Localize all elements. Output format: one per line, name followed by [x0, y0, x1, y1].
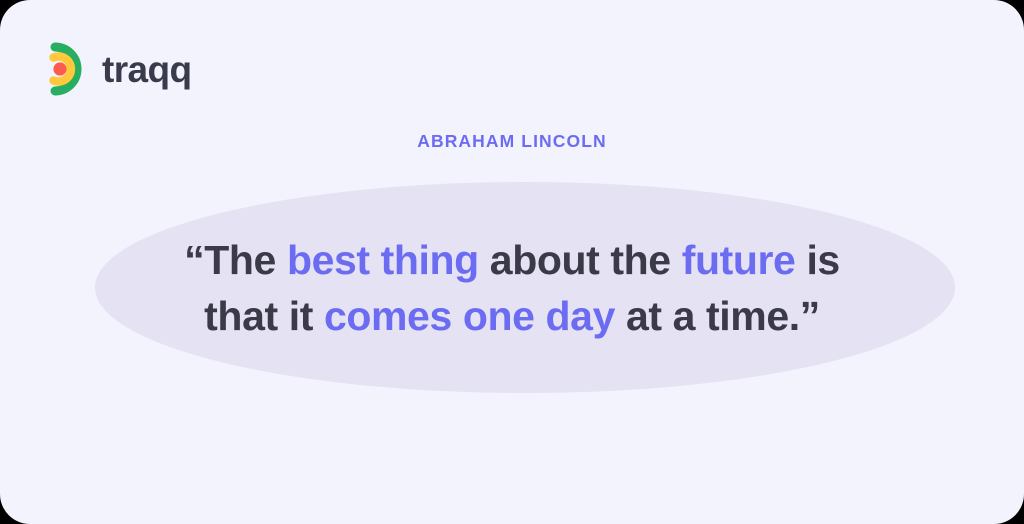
traqq-radial-logo-icon [38, 40, 88, 98]
brand-logo[interactable]: traqq [38, 40, 192, 98]
brand-wordmark: traqq [102, 51, 192, 88]
quote-plain: is [795, 237, 839, 283]
quote-line-1: “The best thing about the future is [0, 232, 1024, 288]
quote-line-2: that it comes one day at a time.” [0, 288, 1024, 344]
quote-plain: about the [479, 237, 682, 283]
quote-highlight: future [682, 237, 796, 283]
quote-author: ABRAHAM LINCOLN [0, 131, 1024, 152]
quote-plain: at a time.” [615, 293, 820, 339]
quote-plain: that it [204, 293, 324, 339]
quote-card: traqq ABRAHAM LINCOLN “The best thing ab… [0, 0, 1024, 524]
quote-text: “The best thing about the future is that… [0, 232, 1024, 344]
quote-plain: “The [184, 237, 287, 283]
quote-highlight: best thing [287, 237, 479, 283]
quote-highlight: comes one day [324, 293, 615, 339]
